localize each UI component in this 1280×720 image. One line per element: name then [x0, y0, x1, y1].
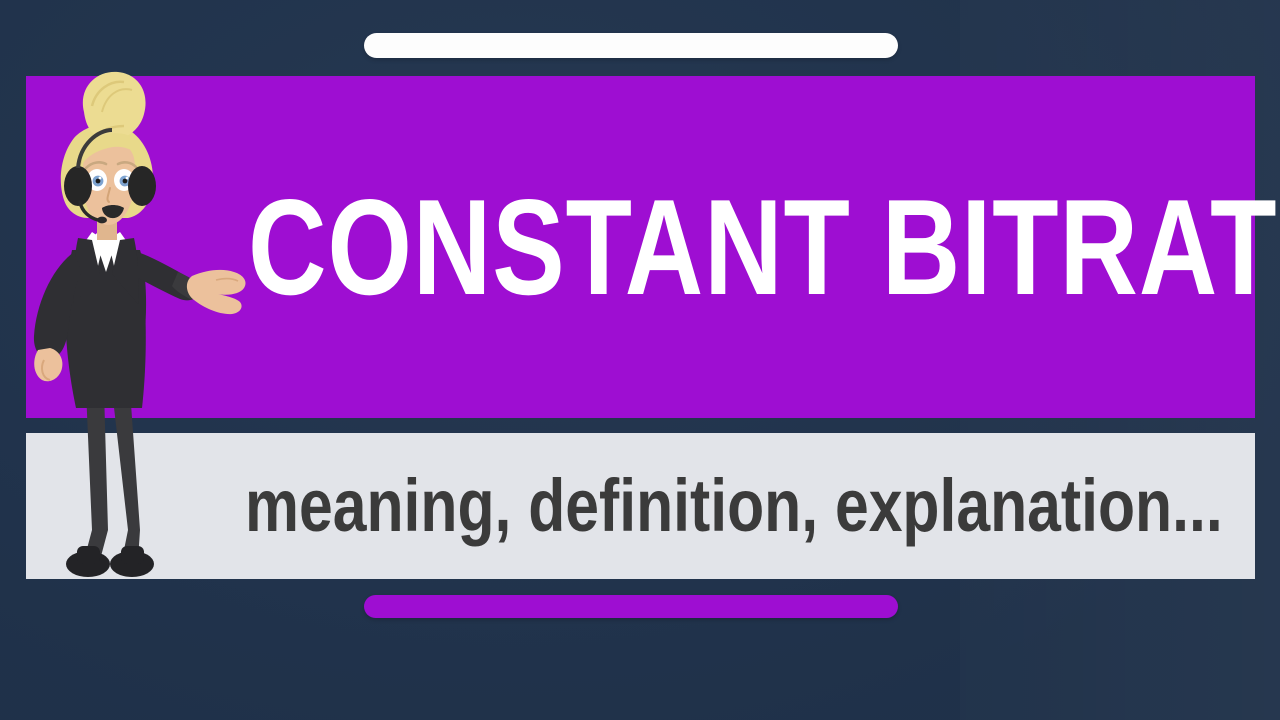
page-title: CONSTANT BITRATE — [248, 76, 1054, 418]
right-arm-gesturing — [138, 252, 246, 314]
bottom-placeholder-pill — [364, 595, 898, 618]
top-placeholder-pill — [364, 33, 898, 58]
presenter-character-illustration — [0, 60, 270, 590]
shoes-group — [66, 546, 154, 577]
video-thumbnail-frame: CONSTANT BITRATE meaning, definition, ex… — [0, 0, 1280, 720]
legs-group — [84, 390, 140, 560]
subtitle-text: meaning, definition, explanation... — [245, 433, 1223, 579]
